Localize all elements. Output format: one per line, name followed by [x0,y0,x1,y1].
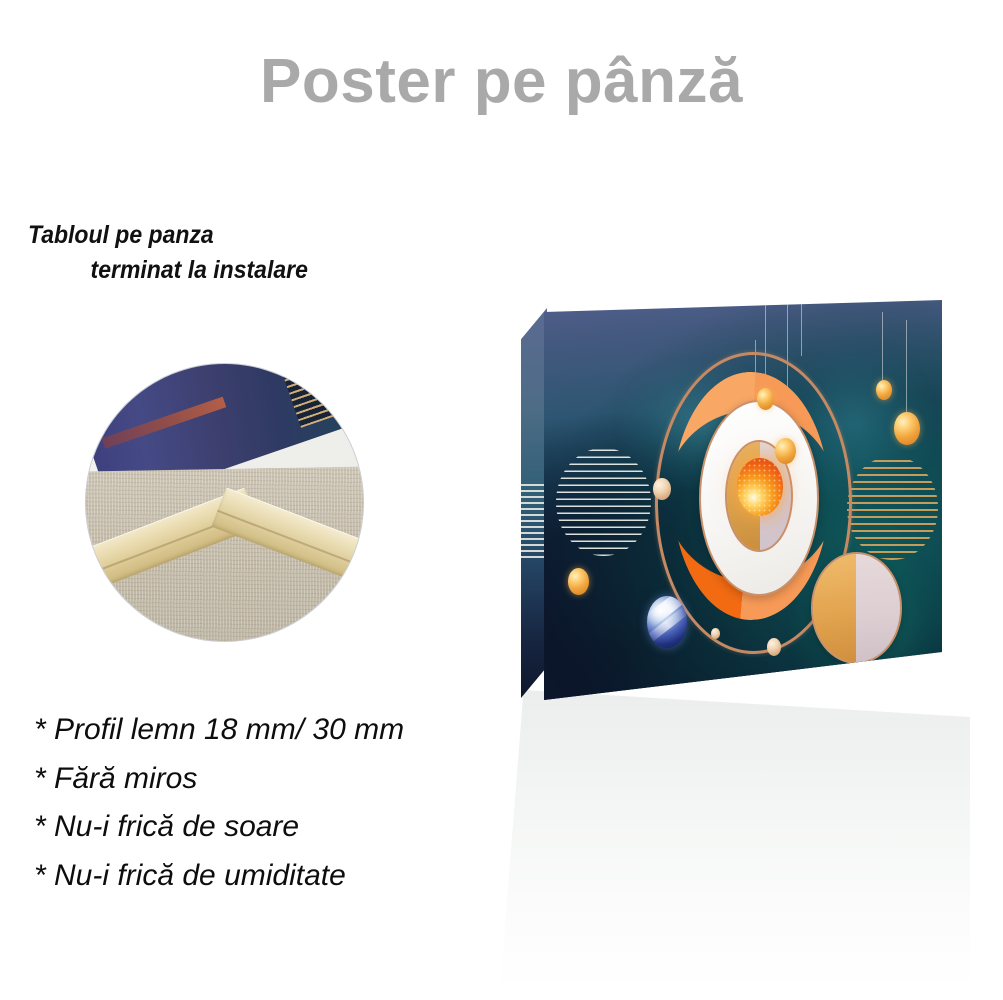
canvas-print-band [102,397,226,449]
hanging-string [801,300,802,356]
canvas-print-stripes [278,363,364,428]
orbit-sphere-bottom [767,638,781,656]
frame-corner-detail-photo [85,363,364,642]
frame-corner-photo-content [86,364,363,641]
hanging-string [882,312,883,384]
hanging-sphere-small [757,388,774,410]
feature-item-0: * Profil lemn 18 mm/ 30 mm [34,706,404,755]
blue-marble-sphere [647,596,687,648]
orbit-sphere-tiny [711,628,720,639]
hanging-sphere-right-large [894,412,919,445]
striped-circle-left [556,448,652,556]
oval-gold-half [813,554,856,662]
floating-sphere-lower-left [568,568,589,595]
feature-item-3: * Nu-i frică de umiditate [34,852,404,901]
canvas-product-mockup [500,290,970,720]
subtitle-line-1: Tabloul pe panza [28,221,214,249]
page-title: Poster pe pânză [0,48,1003,116]
hanging-string [906,320,907,412]
canvas-side-edge [521,308,547,698]
sphere-dot-texture [737,458,783,516]
feature-item-1: * Fără miros [34,755,404,804]
feature-item-2: * Nu-i frică de soare [34,803,404,852]
center-glowing-sphere [737,458,783,516]
side-edge-stripes [521,484,547,558]
gradient-oval [811,552,903,664]
subtitle-block: Tabloul pe panza terminat la instalare [28,218,308,287]
canvas-front-face [544,300,942,700]
subtitle-line-2: terminat la instalare [28,253,308,288]
hanging-sphere-medium [775,438,796,464]
feature-list: * Profil lemn 18 mm/ 30 mm * Fără miros … [34,706,404,900]
reflection-surface [500,690,970,990]
striped-circle-right [847,456,939,560]
